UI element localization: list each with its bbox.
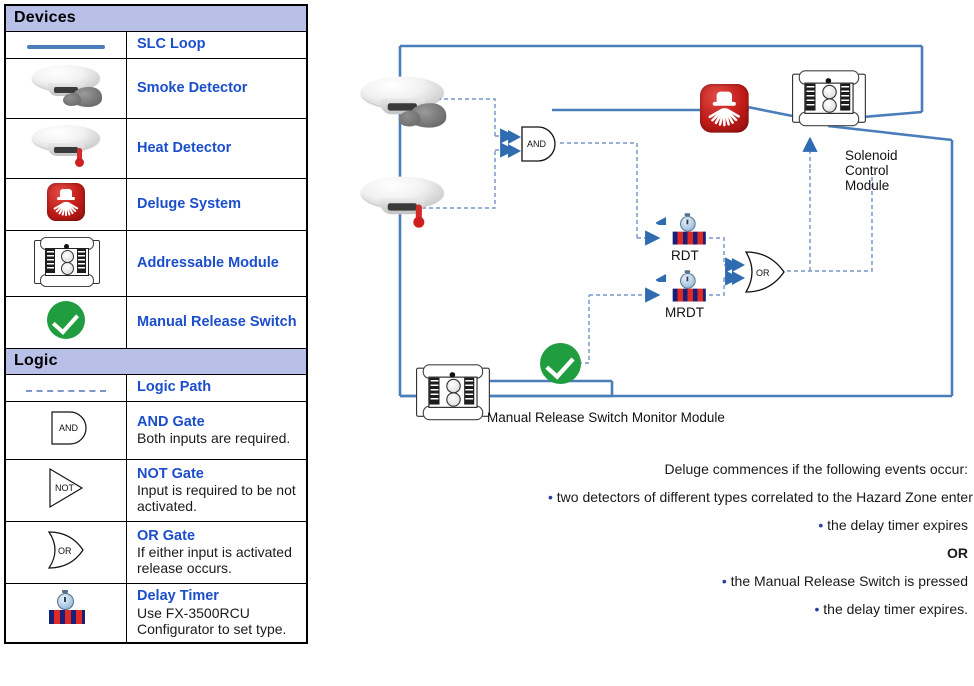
notes-heading: Deluge commences if the following events… [548,462,968,476]
bullet-icon: • [548,489,553,505]
legend-label-logic-path: Logic Path [137,379,298,396]
legend-desc-or-gate: If either input is activated release occ… [137,544,298,576]
svg-text:AND: AND [59,423,79,433]
legend-section-header-logic: Logic [6,349,307,375]
not-gate-icon: NOT [6,460,127,522]
notes-or-separator: OR [548,546,968,560]
svg-text:OR: OR [58,546,72,556]
legend-label-heat-detector: Heat Detector [137,140,298,157]
legend-row-not-gate: NOT NOT Gate Input is required to be not… [6,460,307,522]
notes-block: Deluge commences if the following events… [548,462,968,630]
deluge-system-device [700,84,749,139]
legend-label-manual-release-switch: Manual Release Switch [137,314,298,331]
legend-label-delay-timer: Delay Timer [137,588,298,605]
solenoid-control-module-device [792,68,864,132]
manual-release-switch-icon [6,297,127,349]
bullet-icon: • [818,517,823,533]
legend-row-and-gate: AND AND Gate Both inputs are required. [6,402,307,460]
legend-row-manual-release-switch: Manual Release Switch [6,297,307,349]
legend-desc-and-gate: Both inputs are required. [137,430,298,446]
bullet-icon: • [722,573,727,589]
notes-line-1: • two detectors of different types corre… [548,490,968,504]
legend-row-or-gate: OR OR Gate If either input is activated … [6,522,307,584]
or-gate-label: OR [756,268,770,278]
notes-line-2: • the delay timer expires [548,518,968,532]
notes-line-3: • the Manual Release Switch is pressed [548,574,968,588]
legend-row-delay-timer: Delay Timer Use FX-3500RCU Configurator … [6,584,307,643]
legend-label-or-gate: OR Gate [137,528,298,545]
legend-section-header-devices: Devices [6,6,307,32]
legend-row-heat-detector: Heat Detector [6,119,307,179]
logic-path-wires [422,99,872,363]
notes-line-4: • the delay timer expires. [548,602,968,616]
legend-row-deluge-system: Deluge System [6,179,307,231]
legend-section-title: Logic [6,349,307,375]
and-gate-icon: AND [6,402,127,460]
solenoid-control-module-label: Solenoid Control Module [845,148,898,193]
delay-timer-icon [6,584,127,643]
or-gate-symbol: OR [732,244,794,305]
manual-release-switch-device [540,343,581,389]
smoke-detector-icon [6,59,127,119]
manual-release-monitor-module-label: Manual Release Switch Monitor Module [487,410,725,425]
legend-label-slc-loop: SLC Loop [137,36,298,53]
legend-row-logic-path: Logic Path [6,375,307,402]
rdt-label: RDT [671,248,699,263]
legend-label-addressable-module: Addressable Module [137,255,298,272]
legend-label-and-gate: AND Gate [137,414,298,431]
mrdt-label: MRDT [665,305,704,320]
legend-row-slc-loop: SLC Loop [6,32,307,59]
legend-desc-not-gate: Input is required to be not activated. [137,482,298,514]
legend-table: Devices SLC Loop Smoke Detector Heat Det… [4,4,308,644]
or-gate-icon: OR [6,522,127,584]
bullet-icon: • [814,601,819,617]
legend-row-addressable-module: Addressable Module [6,231,307,297]
logic-path-line-icon [6,375,127,402]
legend-row-smoke-detector: Smoke Detector [6,59,307,119]
legend-desc-delay-timer: Use FX-3500RCU Configurator to set type. [137,605,298,637]
heat-detector-device [356,174,449,236]
and-gate-label: AND [527,139,547,149]
legend-label-smoke-detector: Smoke Detector [137,80,298,97]
and-gate-symbol: AND [508,119,566,174]
legend-label-not-gate: NOT Gate [137,466,298,483]
addressable-module-icon [6,231,127,297]
smoke-detector-device [356,74,449,136]
legend-section-title: Devices [6,6,307,32]
svg-text:NOT: NOT [55,483,75,493]
legend-label-deluge-system: Deluge System [137,196,298,213]
deluge-system-icon [6,179,127,231]
manual-release-monitor-module-device [416,362,488,426]
heat-detector-icon [6,119,127,179]
slc-loop-line-icon [6,32,127,59]
